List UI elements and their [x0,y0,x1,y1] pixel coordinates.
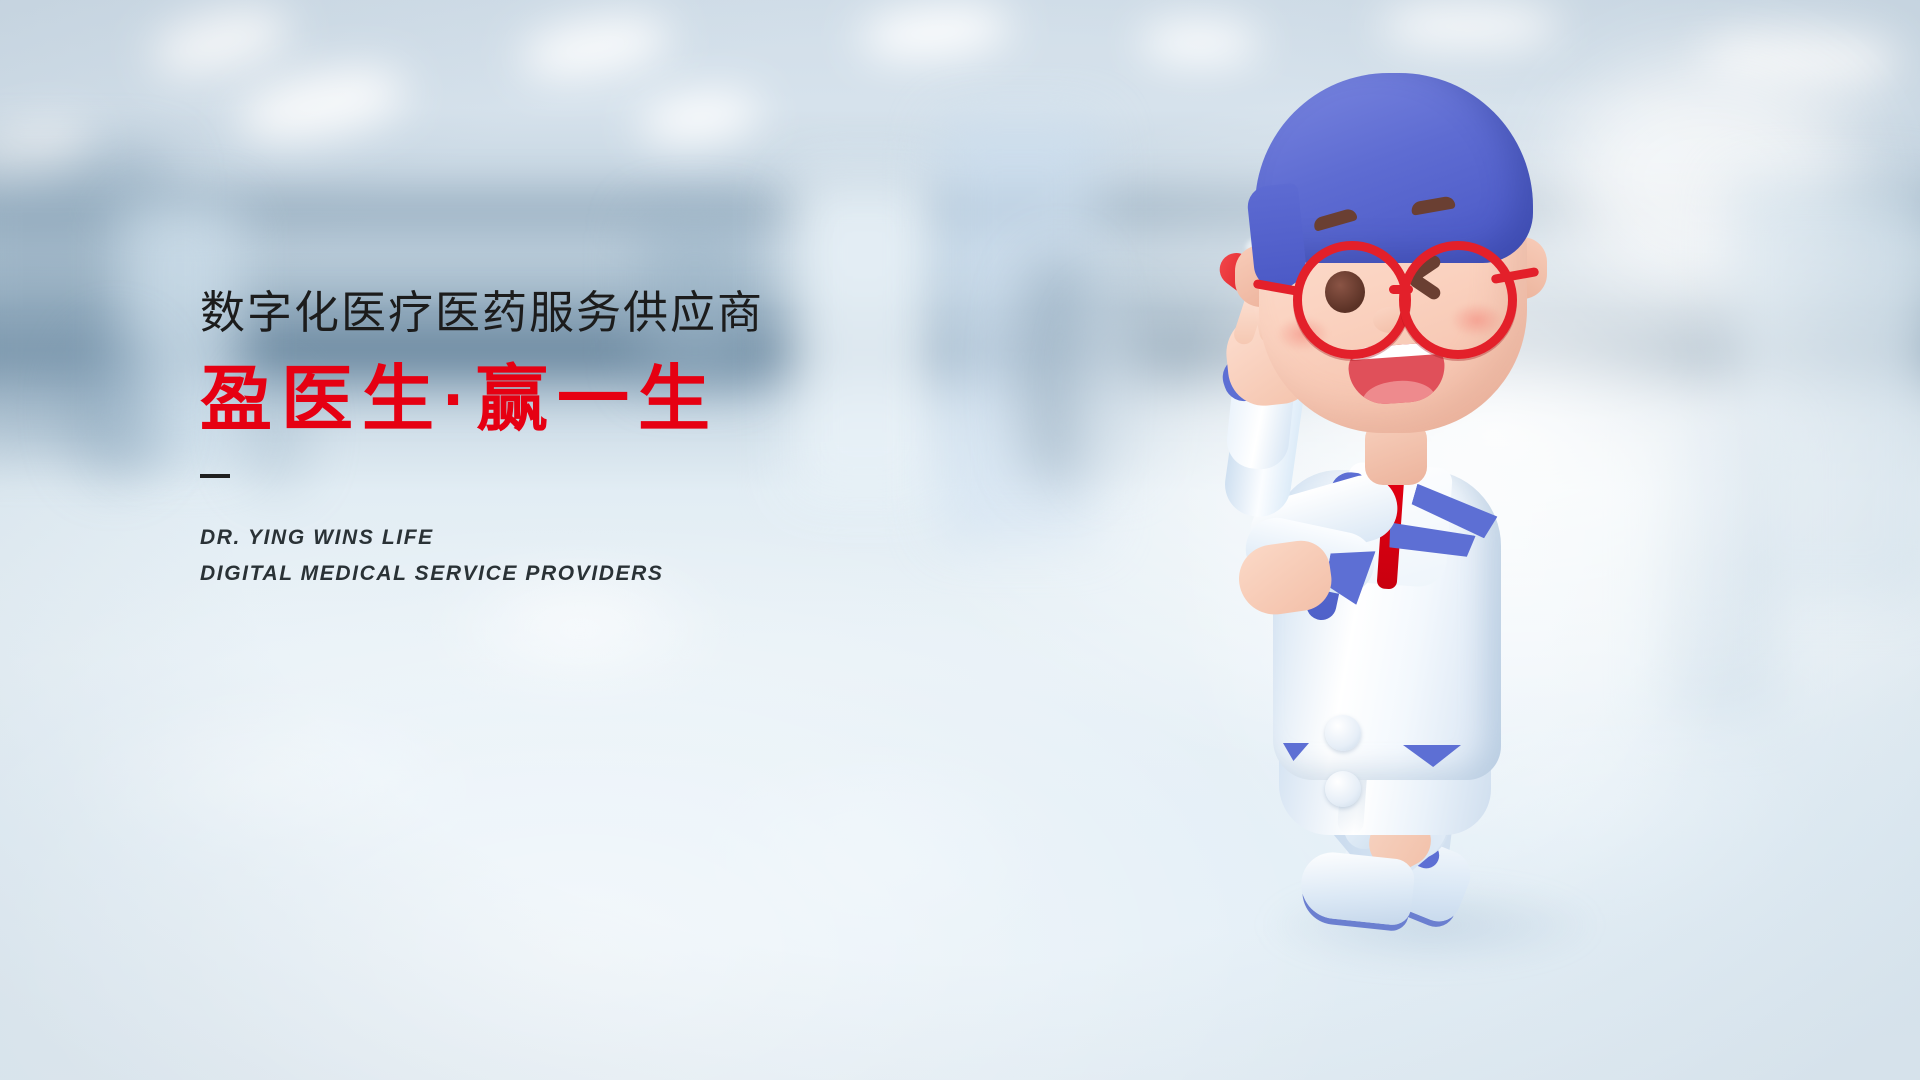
glasses-lens-left [1293,241,1411,359]
hero-english-line-2: DIGITAL MEDICAL SERVICE PROVIDERS [200,556,1020,592]
glasses-icon [1241,241,1531,351]
hero-title: 盈医生·赢一生 [200,360,1020,441]
hero-kicker: 数字化医疗医药服务供应商 [200,288,1020,338]
hero-banner: 数字化医疗医药服务供应商 盈医生·赢一生 DR. YING WINS LIFE … [0,0,1920,1080]
shoe-front-icon [1298,849,1416,926]
title-divider [200,474,230,478]
doctor-mascot-illustration [1215,55,1685,1035]
hero-english-block: DR. YING WINS LIFE DIGITAL MEDICAL SERVI… [200,520,1020,592]
glasses-lens-right [1399,241,1517,359]
coat-button-icon [1325,715,1361,751]
coat-button-icon [1325,771,1361,807]
hero-english-line-1: DR. YING WINS LIFE [200,520,1020,556]
hero-copy: 数字化医疗医药服务供应商 盈医生·赢一生 DR. YING WINS LIFE … [200,288,1020,592]
